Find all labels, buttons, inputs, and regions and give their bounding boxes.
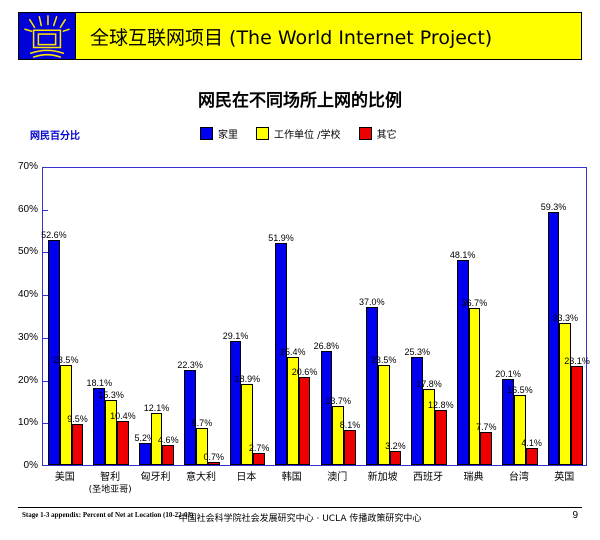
- bar-home[interactable]: 25.3%: [411, 357, 423, 465]
- x-axis-label: 美国: [42, 472, 87, 484]
- bar-value-label: 20.6%: [292, 367, 318, 377]
- bar-value-label: 37.0%: [359, 297, 385, 307]
- bar-group: 51.9%25.4%20.6%: [275, 168, 310, 465]
- bar-value-label: 22.3%: [177, 360, 203, 370]
- legend-item: 家里: [200, 126, 238, 141]
- bar-home[interactable]: 37.0%: [366, 307, 378, 465]
- page-title: 网民在不同场所上网的比例: [0, 86, 600, 111]
- bar-value-label: 0.7%: [203, 452, 224, 462]
- bar-value-label: 9.5%: [67, 414, 88, 424]
- y-tick-mark: [43, 295, 48, 296]
- legend-label: 其它: [377, 126, 397, 141]
- bar-value-label: 18.1%: [87, 378, 113, 388]
- page-number: 9: [572, 510, 578, 521]
- bar-group: 26.8%13.7%8.1%: [321, 168, 356, 465]
- y-tick-mark: [43, 210, 48, 211]
- bar-home[interactable]: 52.6%: [48, 240, 60, 465]
- bar-value-label: 26.8%: [314, 341, 340, 351]
- bar-group: 52.6%23.5%9.5%: [48, 168, 83, 465]
- y-tick-label: 60%: [2, 204, 38, 215]
- y-tick-label: 0%: [2, 460, 38, 471]
- bar-value-label: 4.1%: [521, 438, 542, 448]
- y-tick-label: 20%: [2, 375, 38, 386]
- legend-item: 其它: [359, 126, 397, 141]
- bar-other[interactable]: 7.7%: [480, 432, 492, 465]
- bar-value-label: 8.1%: [340, 420, 361, 430]
- y-tick-label: 10%: [2, 417, 38, 428]
- legend-swatch-icon: [359, 127, 372, 140]
- y-tick-label: 50%: [2, 246, 38, 257]
- bar-other[interactable]: 4.6%: [162, 445, 174, 465]
- bar-work-school[interactable]: 16.5%: [514, 395, 526, 465]
- y-tick-mark: [43, 423, 48, 424]
- x-axis-label-main: 日本: [236, 472, 256, 483]
- header-banner: 全球互联网项目 (The World Internet Project): [18, 12, 582, 60]
- bar-other[interactable]: 2.7%: [253, 453, 265, 465]
- legend-label: 工作单位 /学校: [274, 126, 341, 141]
- bar-value-label: 10.4%: [110, 411, 136, 421]
- x-axis-label: 新加坡: [360, 472, 405, 484]
- plot-frame: 52.6%23.5%9.5%18.1%15.3%10.4%5.2%12.1%4.…: [42, 167, 587, 466]
- bar-value-label: 23.5%: [53, 355, 79, 365]
- y-axis-label: 网民百分比: [30, 127, 80, 142]
- x-axis-label-main: 台湾: [509, 472, 529, 483]
- y-tick-mark: [43, 252, 48, 253]
- y-tick-label: 40%: [2, 289, 38, 300]
- bar-value-label: 25.3%: [404, 347, 430, 357]
- bar-home[interactable]: 26.8%: [321, 351, 333, 465]
- monitor-rays-icon: [19, 13, 75, 59]
- bar-value-label: 12.8%: [428, 400, 454, 410]
- bar-group: 37.0%23.5%3.2%: [366, 168, 401, 465]
- bar-group: 18.1%15.3%10.4%: [93, 168, 128, 465]
- x-axis-label-main: 意大利: [186, 472, 216, 483]
- bar-value-label: 12.1%: [144, 403, 170, 413]
- legend-item: 工作单位 /学校: [256, 126, 341, 141]
- x-axis-label: 意大利: [178, 472, 223, 484]
- x-axis-label-main: 西班牙: [413, 472, 443, 483]
- legend-label: 家里: [218, 126, 238, 141]
- bar-home[interactable]: 59.3%: [548, 212, 560, 465]
- x-axis-label: 台湾: [496, 472, 541, 484]
- bar-other[interactable]: 0.7%: [208, 462, 220, 465]
- x-axis-label: 韩国: [269, 472, 314, 484]
- x-axis-label-main: 韩国: [282, 472, 302, 483]
- bar-other[interactable]: 10.4%: [117, 421, 129, 465]
- chart-legend: 家里工作单位 /学校其它: [200, 126, 397, 141]
- bar-work-school[interactable]: 15.3%: [105, 400, 117, 465]
- x-axis-label-main: 智利: [100, 472, 120, 483]
- x-axis-label-main: 瑞典: [463, 472, 483, 483]
- bar-work-school[interactable]: 33.3%: [559, 323, 571, 465]
- banner-title: 全球互联网项目 (The World Internet Project): [76, 13, 581, 59]
- bar-value-label: 51.9%: [268, 233, 294, 243]
- bar-value-label: 25.4%: [280, 347, 306, 357]
- x-axis-label-main: 澳门: [327, 472, 347, 483]
- x-axis-label: 西班牙: [405, 472, 450, 484]
- bar-other[interactable]: 4.1%: [526, 448, 538, 466]
- bar-value-label: 23.1%: [564, 356, 590, 366]
- bar-other[interactable]: 20.6%: [299, 377, 311, 465]
- legend-swatch-icon: [200, 127, 213, 140]
- x-axis-label: 日本: [224, 472, 269, 484]
- y-tick-mark: [43, 338, 48, 339]
- x-axis-label: 澳门: [315, 472, 360, 484]
- bar-group: 59.3%33.3%23.1%: [548, 168, 583, 465]
- bar-value-label: 59.3%: [541, 202, 567, 212]
- bar-value-label: 18.9%: [235, 374, 261, 384]
- y-tick-mark: [43, 381, 48, 382]
- plot-area: 52.6%23.5%9.5%18.1%15.3%10.4%5.2%12.1%4.…: [43, 168, 586, 465]
- x-axis-label-main: 英国: [554, 472, 574, 483]
- bar-value-label: 20.1%: [495, 369, 521, 379]
- x-axis-label-main: 新加坡: [368, 472, 398, 483]
- wip-logo: [19, 13, 76, 59]
- bar-value-label: 23.5%: [371, 355, 397, 365]
- bar-group: 29.1%18.9%2.7%: [230, 168, 265, 465]
- legend-swatch-icon: [256, 127, 269, 140]
- bar-value-label: 7.7%: [476, 422, 497, 432]
- bar-value-label: 52.6%: [41, 230, 67, 240]
- bar-group: 48.1%36.7%7.7%: [457, 168, 492, 465]
- x-axis-label-main: 匈牙利: [141, 472, 171, 483]
- bar-value-label: 15.3%: [98, 390, 124, 400]
- bar-other[interactable]: 8.1%: [344, 430, 356, 465]
- footer-divider: [18, 507, 582, 508]
- bar-other[interactable]: 12.8%: [435, 410, 447, 465]
- footer-organizations: 中国社会科学院社会发展研究中心 · UCLA 传播政策研究中心: [0, 511, 600, 524]
- bar-value-label: 17.8%: [416, 379, 442, 389]
- bar-value-label: 36.7%: [462, 298, 488, 308]
- x-axis-label-sub: (圣地亚哥): [87, 484, 132, 496]
- bar-group: 20.1%16.5%4.1%: [502, 168, 537, 465]
- bar-value-label: 4.6%: [158, 435, 179, 445]
- bar-group: 5.2%12.1%4.6%: [139, 168, 174, 465]
- bar-other[interactable]: 23.1%: [571, 366, 583, 465]
- bar-value-label: 33.3%: [553, 313, 579, 323]
- bar-value-label: 29.1%: [223, 331, 249, 341]
- bar-value-label: 16.5%: [507, 385, 533, 395]
- bar-work-school[interactable]: 36.7%: [469, 308, 481, 465]
- bar-value-label: 48.1%: [450, 250, 476, 260]
- bar-home[interactable]: 29.1%: [230, 341, 242, 465]
- bar-value-label: 3.2%: [385, 441, 406, 451]
- bar-other[interactable]: 3.2%: [390, 451, 402, 465]
- x-axis-label: 瑞典: [451, 472, 496, 484]
- bar-value-label: 13.7%: [325, 396, 351, 406]
- bar-group: 25.3%17.8%12.8%: [411, 168, 446, 465]
- x-axis-label: 匈牙利: [133, 472, 178, 484]
- x-axis-label: 智利(圣地亚哥): [87, 472, 132, 496]
- bar-work-school[interactable]: 13.7%: [332, 406, 344, 465]
- bar-value-label: 2.7%: [249, 443, 270, 453]
- bar-value-label: 8.7%: [192, 418, 213, 428]
- bar-home[interactable]: 5.2%: [139, 443, 151, 465]
- bar-home[interactable]: 48.1%: [457, 260, 469, 465]
- bar-other[interactable]: 9.5%: [72, 424, 84, 465]
- y-tick-label: 30%: [2, 332, 38, 343]
- bar-group: 22.3%8.7%0.7%: [184, 168, 219, 465]
- y-tick-label: 70%: [2, 161, 38, 172]
- x-axis-label-main: 美国: [55, 472, 75, 483]
- x-axis-label: 英国: [542, 472, 587, 484]
